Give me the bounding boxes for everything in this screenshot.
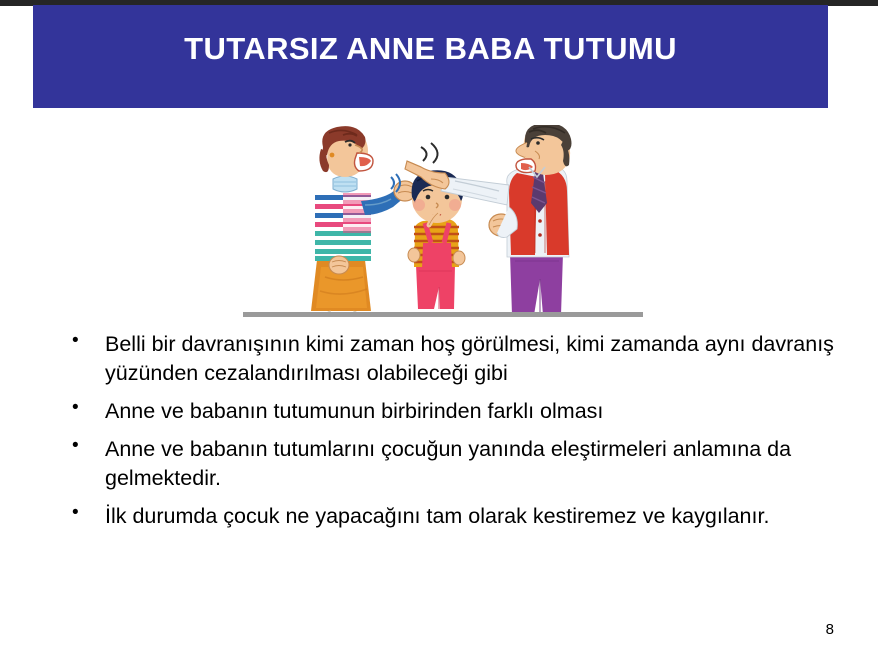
slide-number: 8	[826, 621, 834, 638]
bullet-point-icon: •	[72, 503, 79, 522]
list-item-text: Belli bir davranışının kimi zaman hoş gö…	[105, 332, 834, 385]
list-item-text: Anne ve babanın tutumlarını çocuğun yanı…	[105, 437, 791, 490]
page-title: TUTARSIZ ANNE BABA TUTUMU	[33, 31, 828, 67]
list-item-text: İlk durumda çocuk ne yapacağını tam olar…	[105, 504, 769, 528]
list-item-text: Anne ve babanın tutumunun birbirinden fa…	[105, 399, 603, 423]
slide-canvas: TUTARSIZ ANNE BABA TUTUMU	[0, 0, 878, 664]
list-item: • Anne ve babanın tutumlarını çocuğun ya…	[63, 435, 853, 493]
title-banner: TUTARSIZ ANNE BABA TUTUMU	[33, 5, 828, 108]
arguing-parents-illustration-svg	[295, 125, 605, 317]
list-item: • İlk durumda çocuk ne yapacağını tam ol…	[63, 502, 853, 531]
bullet-point-icon: •	[72, 436, 79, 455]
bullet-point-icon: •	[72, 398, 79, 417]
bullet-point-icon: •	[72, 331, 79, 350]
arguing-parents-illustration	[295, 125, 605, 317]
bullet-list: • Belli bir davranışının kimi zaman hoş …	[63, 330, 853, 540]
illustration-ground-bar	[243, 312, 643, 317]
list-item: • Anne ve babanın tutumunun birbirinden …	[63, 397, 853, 426]
list-item: • Belli bir davranışının kimi zaman hoş …	[63, 330, 853, 388]
